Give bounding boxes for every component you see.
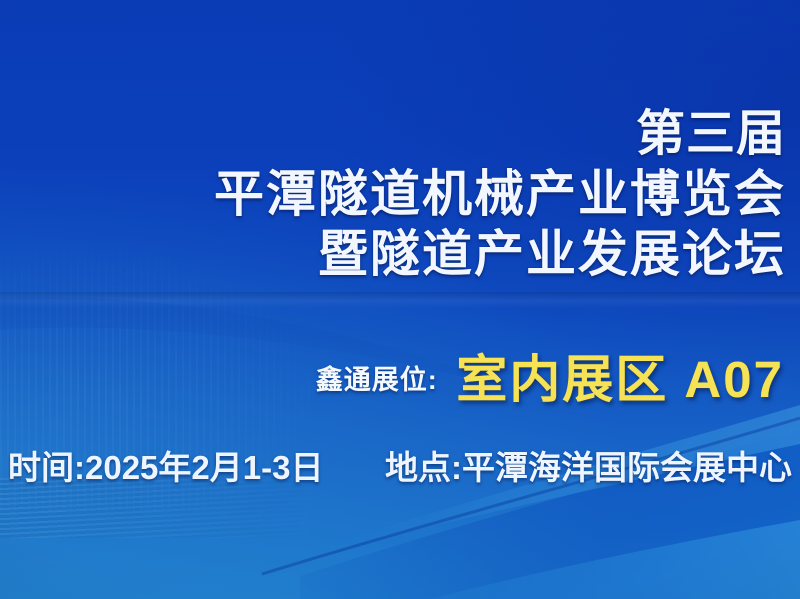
headline-block: 第三届 平潭隧道机械产业博览会 暨隧道产业发展论坛 [0,104,786,284]
event-venue: 地点:平潭海洋国际会展中心 [385,441,792,489]
background-swoosh-curves [0,0,800,599]
booth-label: 鑫通展位: [316,358,438,397]
booth-info: 鑫通展位: 室内展区 A07 [0,338,784,412]
exhibition-poster: 第三届 平潭隧道机械产业博览会 暨隧道产业发展论坛 鑫通展位: 室内展区 A07… [0,0,800,599]
headline-line-edition: 第三届 [0,104,786,164]
event-meta-row: 时间:2025年2月1-3日 地点:平潭海洋国际会展中心 [8,441,792,489]
event-date: 时间:2025年2月1-3日 [8,441,323,489]
headline-line-expo-name: 平潭隧道机械产业博览会 [0,164,786,224]
headline-line-forum-name: 暨隧道产业发展论坛 [0,224,786,284]
booth-number: 室内展区 A07 [456,338,784,412]
